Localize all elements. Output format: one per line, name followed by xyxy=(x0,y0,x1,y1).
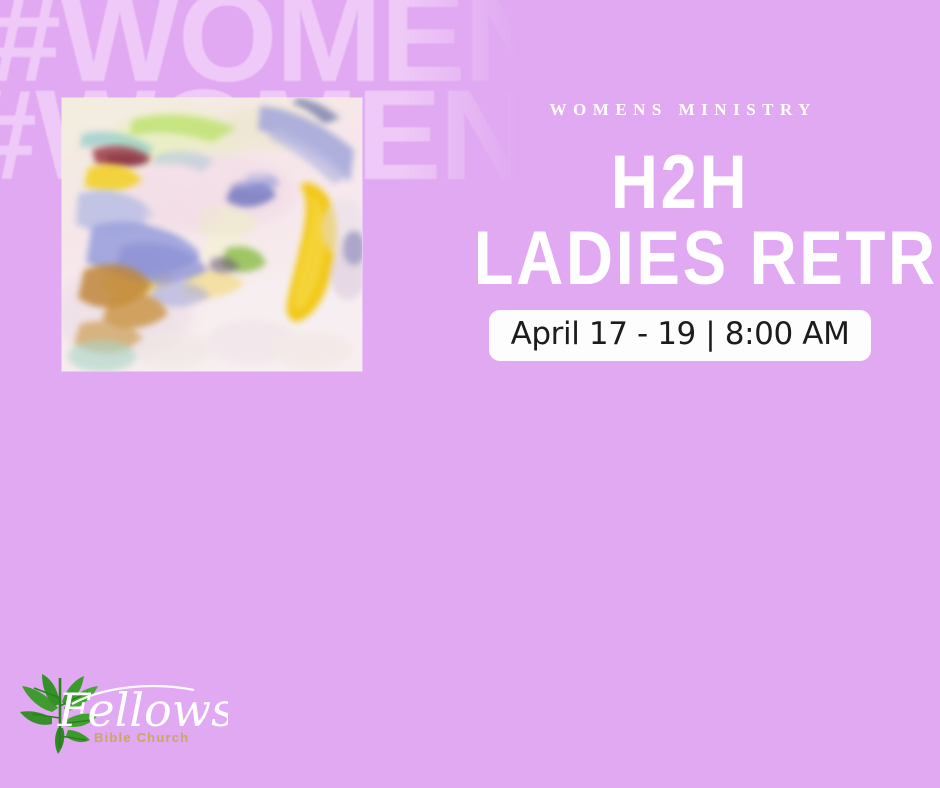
text-column: WOMENS MINISTRY H2H LADIES RETREAT April… xyxy=(440,100,920,361)
logo-subtitle: Bible Church xyxy=(94,730,189,745)
headline-secondary: LADIES RETREAT xyxy=(474,224,887,294)
headline-primary: H2H xyxy=(474,148,887,218)
artwork-svg xyxy=(62,98,362,371)
church-logo: Fellowship Bible Church xyxy=(8,668,228,754)
church-logo-svg: Fellowship Bible Church xyxy=(8,668,228,754)
eyebrow-label: WOMENS MINISTRY xyxy=(440,100,920,120)
flyer-canvas: #WOMENS #WOMENS xyxy=(0,0,940,788)
event-date-badge: April 17 - 19 | 8:00 AM xyxy=(489,310,872,361)
artwork-image xyxy=(62,98,362,371)
logo-name: Fellowship xyxy=(57,683,228,737)
date-badge-container: April 17 - 19 | 8:00 AM xyxy=(440,310,920,361)
